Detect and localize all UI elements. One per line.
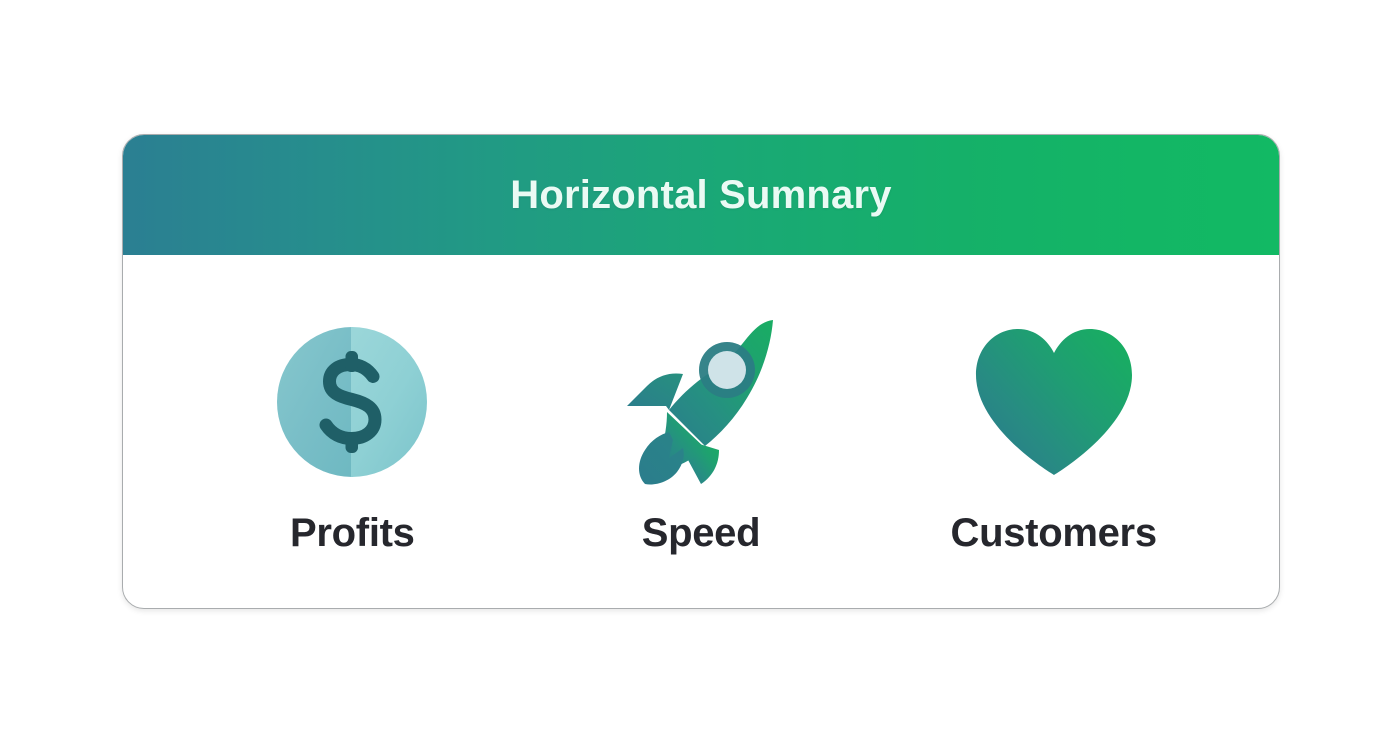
feature-item-speed[interactable]: Speed bbox=[551, 255, 851, 553]
feature-label-speed: Speed bbox=[642, 513, 761, 553]
card-header: Horizontal Sumnary bbox=[123, 135, 1279, 255]
page-title: Horizontal Sumnary bbox=[510, 175, 891, 215]
feature-label-customers: Customers bbox=[951, 513, 1157, 553]
rocket-icon bbox=[621, 314, 781, 490]
feature-icon-speed bbox=[621, 317, 781, 487]
feature-icon-customers bbox=[970, 317, 1138, 487]
feature-item-profits[interactable]: Profits bbox=[202, 255, 502, 553]
feature-item-customers[interactable]: Customers bbox=[904, 255, 1204, 553]
card-body: Profits bbox=[123, 255, 1279, 609]
page-canvas: Horizontal Sumnary bbox=[0, 0, 1392, 752]
dollar-coin-icon bbox=[276, 326, 428, 478]
feature-icon-profits bbox=[276, 317, 428, 487]
horizontal-summary-card: Horizontal Sumnary bbox=[122, 134, 1280, 609]
heart-icon bbox=[970, 327, 1138, 477]
feature-label-profits: Profits bbox=[290, 513, 415, 553]
